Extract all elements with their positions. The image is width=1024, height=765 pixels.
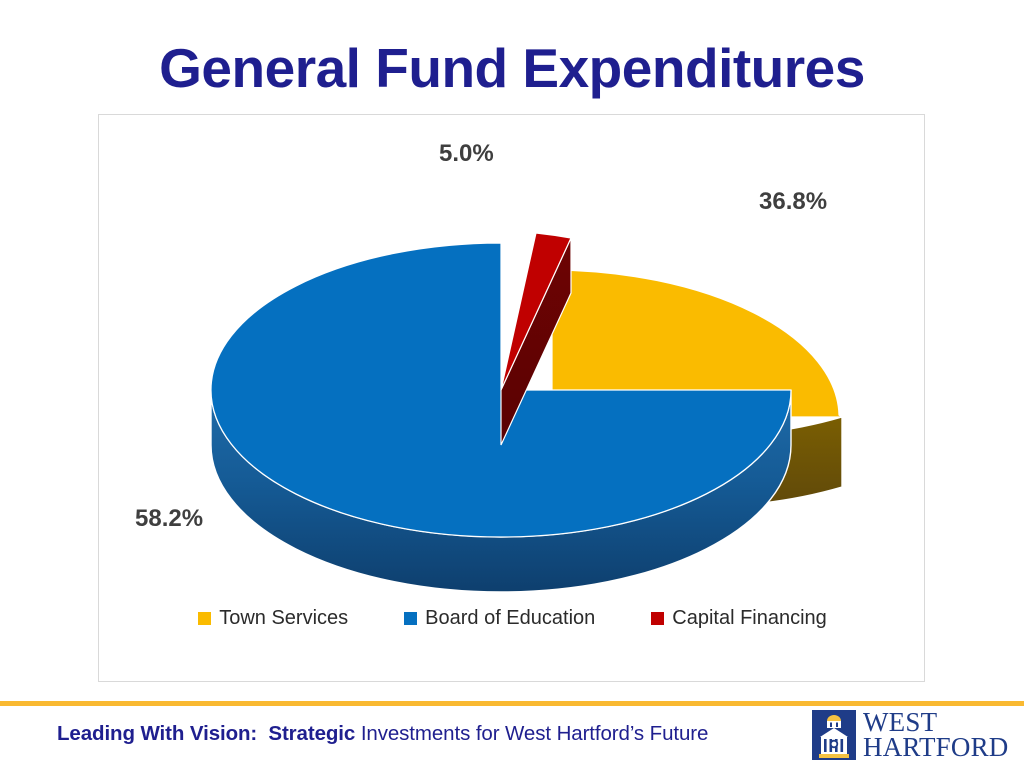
data-label-town-services: 36.8% [759, 188, 827, 216]
footer-tagline-rest: Investments for West Hartford’s Future [361, 722, 708, 745]
data-label-board-of-education: 58.2% [135, 505, 203, 533]
legend-item-town-services[interactable]: Town Services [198, 607, 348, 630]
footer-tagline: Leading With Vision: Strategic Investmen… [57, 722, 708, 746]
chart-container: 5.0% 36.8% 58.2% Town Services Board of … [98, 114, 925, 682]
slide-canvas: General Fund Expenditures [0, 0, 1024, 765]
legend-label-board-of-education: Board of Education [425, 607, 595, 630]
logo-text-line2: HARTFORD [863, 735, 1009, 760]
west-hartford-logo: WEST HARTFORD [812, 707, 1017, 763]
legend-label-capital-financing: Capital Financing [672, 607, 827, 630]
footer-tagline-strategic: Strategic [268, 722, 355, 745]
legend-swatch-icon-town-services [198, 612, 211, 625]
legend-swatch-icon-capital-financing [651, 612, 664, 625]
town-hall-building-icon [812, 710, 856, 760]
footer-tagline-lead: Leading With Vision: [57, 722, 257, 745]
chart-legend: Town Services Board of Education Capital… [99, 607, 926, 630]
legend-swatch-icon-board-of-education [404, 612, 417, 625]
data-label-capital-financing: 5.0% [439, 140, 494, 168]
page-title: General Fund Expenditures [0, 36, 1024, 100]
legend-item-board-of-education[interactable]: Board of Education [404, 607, 595, 630]
legend-item-capital-financing[interactable]: Capital Financing [651, 607, 827, 630]
legend-label-town-services: Town Services [219, 607, 348, 630]
footer-divider [0, 701, 1024, 706]
